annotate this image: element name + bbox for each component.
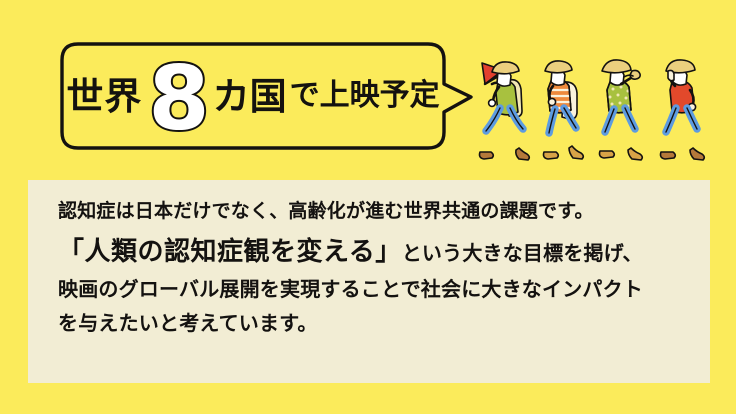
copy-line-2-quote: 「人類の認知症観を変える」 [58,236,402,266]
copy-line-1: 認知症は日本だけでなく、高齢化が進む世界共通の課題です。 [58,202,680,221]
hiker-figure-3 [600,60,643,160]
hat-icon [492,62,519,74]
headline-suffix: で上映予定 [290,81,440,111]
slide-root: 世界 8 カ国 で上映予定 [0,0,736,414]
hikers-svg [476,46,728,168]
body-copy-card: 認知症は日本だけでなく、高齢化が進む世界共通の課題です。 「人類の認知症観を変え… [28,180,710,383]
copy-line-2-rest: という大きな目標を掲げ、 [402,243,643,265]
walking-hikers-illustration [476,46,728,168]
hiker-figure-4 [661,60,705,160]
headline-counter: カ国 [213,78,287,115]
copy-line-4: を与えたいと考えています。 [58,314,680,334]
headline-text: 世界 8 カ国 で上映予定 [58,40,448,152]
bottle-icon [668,70,674,80]
headline-speech-bubble: 世界 8 カ国 で上映予定 [58,40,478,155]
copy-line-3: 映画のグローバル展開を実現することで社会に大きなインパクト [58,280,680,300]
copy-line-2: 「人類の認知症観を変える」という大きな目標を掲げ、 [58,238,680,264]
hiker-figure-2 [544,61,584,159]
hiker-figure-1 [480,62,530,160]
hat-icon [602,60,631,73]
hat-icon [545,61,572,73]
headline-prefix: 世界 [66,78,142,115]
headline-count-number: 8 [148,55,209,143]
